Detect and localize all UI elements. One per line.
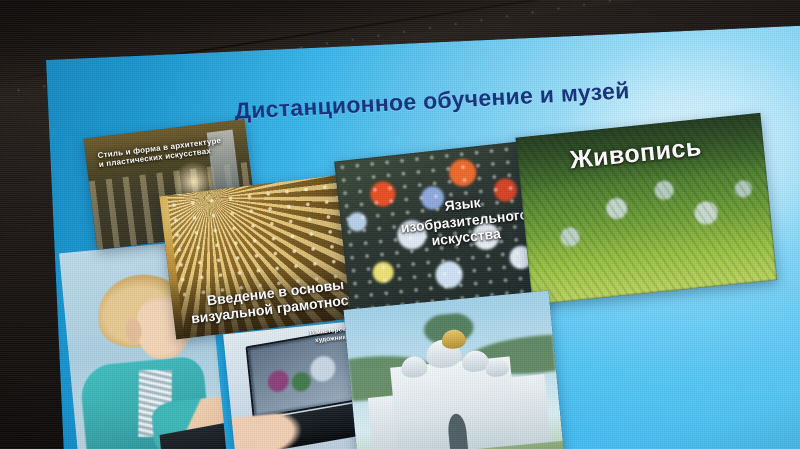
card-painting[interactable]: Живопись	[516, 113, 778, 305]
projected-slide-photo: Дистанционное обучение и музей Стиль и ф…	[0, 0, 800, 449]
card-ancient-rus-art[interactable]: Искусство Древней Руси	[343, 291, 565, 449]
laptop-hand	[223, 412, 304, 449]
projection-screen: Дистанционное обучение и музей Стиль и ф…	[46, 24, 800, 449]
